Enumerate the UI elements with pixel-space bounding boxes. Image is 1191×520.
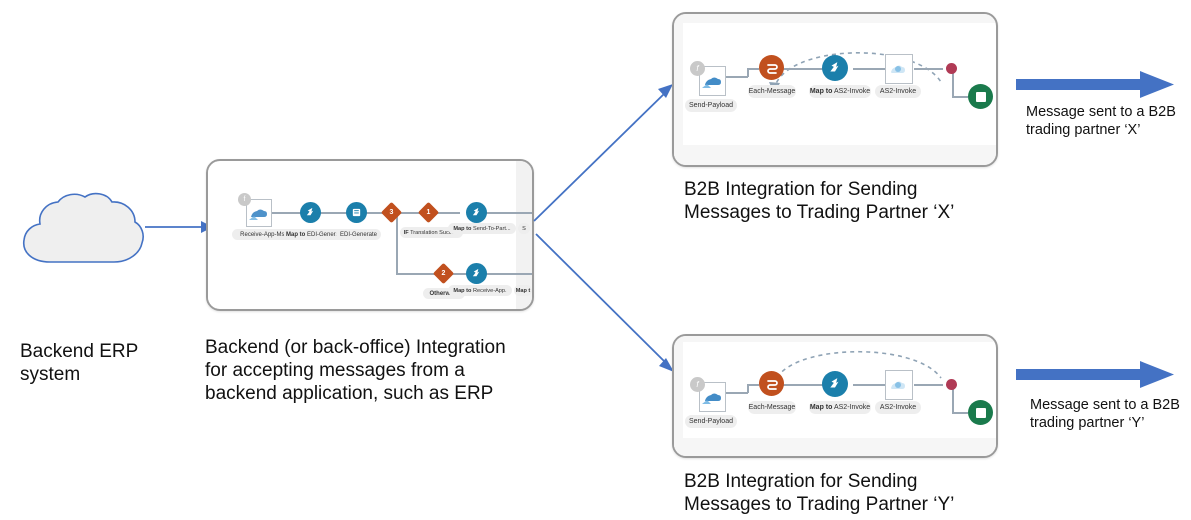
chip-map-to-receive-app[interactable]: Map to Receive-App. xyxy=(448,285,512,296)
chip-as2-invoke-x[interactable]: AS2-Invoke xyxy=(875,85,921,98)
b2b-panel-y-caption: B2B Integration for Sending Messages to … xyxy=(684,470,1014,516)
loop-back-arc-y xyxy=(764,340,949,388)
connector-cloud-to-backend xyxy=(145,215,213,239)
chip-edi-generate[interactable]: EDI-Generate xyxy=(336,229,381,240)
chip-map-to-as2-invoke-x[interactable]: Map to AS2-Invoke xyxy=(809,85,871,98)
node-map-to-edi-generate[interactable] xyxy=(300,202,321,223)
switch-3-number: 3 xyxy=(384,205,399,220)
chip-map-to-as2-invoke-y[interactable]: Map to AS2-Invoke xyxy=(809,401,871,414)
source-label: Backend ERP system xyxy=(20,340,210,386)
panel-y-left-margin xyxy=(674,336,683,456)
panel-x-left-margin xyxy=(674,14,683,165)
trigger-badge-icon: f xyxy=(238,193,251,206)
backend-panel-caption: Backend (or back-office) Integration for… xyxy=(205,336,545,405)
trigger-badge-icon-x: f xyxy=(690,61,705,76)
b2b-panel-partner-x[interactable]: f Send-Payload Each-Message Map to AS2-I… xyxy=(672,12,998,167)
chip-send-payload-x[interactable]: Send-Payload xyxy=(685,99,737,112)
node-receive-app-msg[interactable] xyxy=(246,199,272,227)
connector-backend-to-partner-y xyxy=(532,228,682,378)
panel-x-bottom-margin xyxy=(674,145,996,165)
node-as2-invoke-y[interactable] xyxy=(885,370,913,400)
cloud-icon xyxy=(14,190,149,275)
node-stop-y[interactable] xyxy=(968,400,993,425)
chip-each-message-y[interactable]: Each-Message xyxy=(748,401,796,414)
panel-left-margin xyxy=(208,161,216,309)
node-map-to-receive-app[interactable] xyxy=(466,263,487,284)
chip-map-truncated[interactable]: Map t xyxy=(514,285,532,296)
node-map-to-as2-invoke-x[interactable] xyxy=(822,55,848,81)
chip-send-payload-y[interactable]: Send-Payload xyxy=(685,415,737,428)
panel-y-bottom-margin xyxy=(674,438,996,456)
backend-integration-panel[interactable]: f Receive-App-Msg Map to EDI-Generate ED… xyxy=(206,159,534,311)
stop-square-icon xyxy=(976,408,986,418)
node-each-message-y[interactable] xyxy=(759,371,784,396)
node-stop-x[interactable] xyxy=(968,84,993,109)
panel-x-top-margin xyxy=(674,14,996,23)
node-loop-end-dot-x[interactable] xyxy=(946,63,957,74)
node-as2-invoke-x[interactable] xyxy=(885,54,913,84)
outcome-label-y: Message sent to a B2B trading partner ‘Y… xyxy=(1030,396,1191,432)
outcome-arrow-x xyxy=(1016,70,1176,100)
outcome-label-x: Message sent to a B2B trading partner ‘X… xyxy=(1026,103,1188,139)
chip-each-message-x[interactable]: Each-Message xyxy=(748,85,796,98)
if-translation-number: 1 xyxy=(421,205,436,220)
chip-truncated-s[interactable]: S xyxy=(518,223,530,234)
stop-square-icon xyxy=(976,92,986,102)
trigger-badge-icon-y: f xyxy=(690,377,705,392)
b2b-panel-x-caption: B2B Integration for Sending Messages to … xyxy=(684,178,1014,224)
outcome-arrow-y xyxy=(1016,360,1176,390)
connector-backend-to-partner-x xyxy=(530,80,680,225)
node-each-message-x[interactable] xyxy=(759,55,784,80)
otherwise-number: 2 xyxy=(436,266,451,281)
node-map-to-send-to-partner[interactable] xyxy=(466,202,487,223)
b2b-panel-partner-y[interactable]: f Send-Payload Each-Message Map to AS2-I… xyxy=(672,334,998,458)
node-edi-generate[interactable] xyxy=(346,202,367,223)
node-map-to-as2-invoke-y[interactable] xyxy=(822,371,848,397)
node-loop-end-dot-y[interactable] xyxy=(946,379,957,390)
chip-as2-invoke-y[interactable]: AS2-Invoke xyxy=(875,401,921,414)
chip-map-to-send-to-partner[interactable]: Map to Send-To-Part... xyxy=(448,223,516,234)
